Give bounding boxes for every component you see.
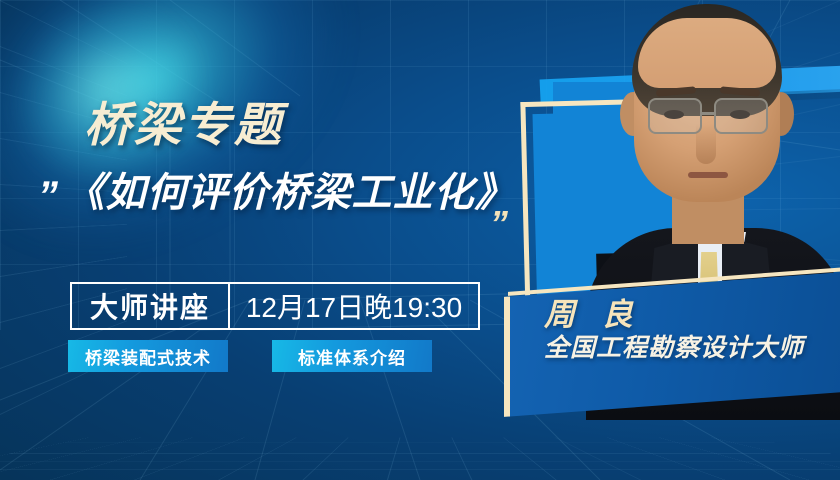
portrait-forehead <box>638 18 776 88</box>
webinar-poster: 桥梁专题 ” 《如何评价桥梁工业化》 ” 大师讲座 12月17日晚19:30 桥… <box>0 0 840 480</box>
portrait-eyeglass-bridge <box>702 112 716 115</box>
portrait-eyeglass-left <box>648 98 702 134</box>
lecture-datetime-label: 12月17日晚19:30 <box>230 284 478 328</box>
speaker-role: 全国工程勘察设计大师 <box>544 334 840 363</box>
page-title: 桥梁专题 <box>84 101 284 148</box>
topic-tag-1: 桥梁装配式技术 <box>68 340 228 372</box>
lecture-title: 《如何评价桥梁工业化》 <box>64 172 515 214</box>
quote-open-mark: ” <box>38 176 58 216</box>
speaker-name-banner: 周 良 全国工程勘察设计大师 <box>504 271 840 417</box>
portrait-eyeglass-right <box>714 98 768 134</box>
quote-close-mark: ” <box>490 206 508 242</box>
speaker-name-banner-inner: 周 良 全国工程勘察设计大师 <box>510 284 840 363</box>
portrait-mouth <box>688 172 728 178</box>
speaker-name: 周 良 <box>544 298 840 332</box>
lecture-category-label: 大师讲座 <box>72 284 228 328</box>
lecture-title-row: ” 《如何评价桥梁工业化》 <box>38 172 515 214</box>
lecture-info-box: 大师讲座 12月17日晚19:30 <box>70 282 480 330</box>
topic-tag-2: 标准体系介绍 <box>272 340 432 372</box>
portrait-nose <box>696 124 716 164</box>
